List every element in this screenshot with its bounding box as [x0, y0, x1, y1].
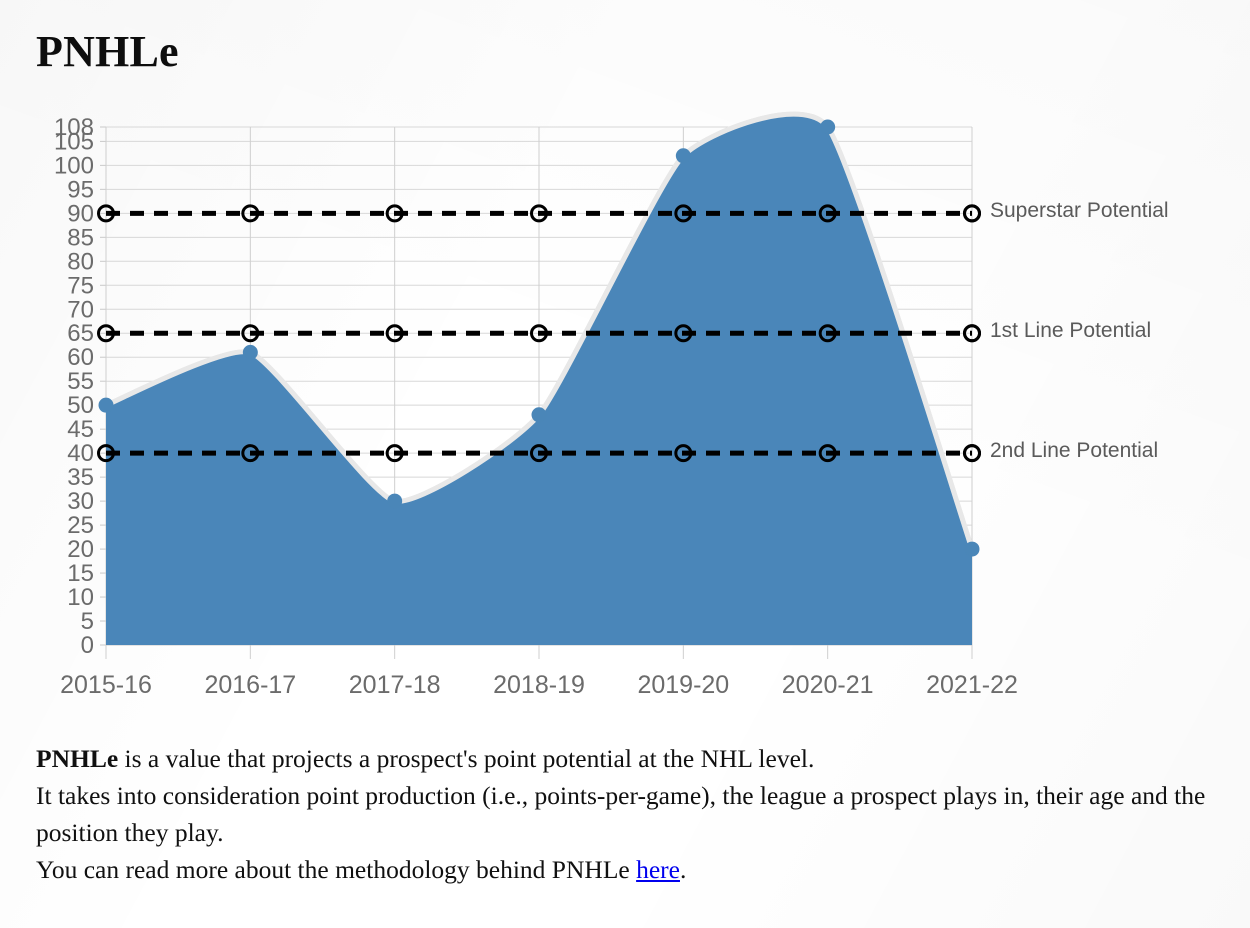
y-tick-label: 85: [67, 224, 94, 251]
reference-line-marker: [99, 446, 114, 461]
y-tick-label: 5: [81, 608, 94, 635]
pnhle-area-chart: 0510152025303540455055606570758085909510…: [0, 105, 1250, 715]
reference-line-label-3: 2nd Line Potential: [990, 439, 1158, 463]
y-tick-label: 45: [67, 416, 94, 443]
reference-line-marker: [676, 326, 691, 341]
y-tick-label: 90: [67, 200, 94, 227]
data-point-marker[interactable]: [821, 120, 835, 134]
y-tick-label: 0: [81, 632, 94, 659]
x-tick-label: 2019-20: [637, 671, 729, 699]
data-point-marker[interactable]: [965, 542, 979, 556]
footer-description: PNHLe is a value that projects a prospec…: [36, 740, 1216, 888]
y-tick-label: 60: [67, 344, 94, 371]
reference-line-marker: [243, 326, 258, 341]
y-tick-label: 30: [67, 488, 94, 515]
x-tick-label: 2017-18: [349, 671, 441, 699]
reference-line-marker: [387, 446, 402, 461]
footer-line-1: PNHLe is a value that projects a prospec…: [36, 740, 1216, 777]
y-tick-label: 108: [54, 114, 94, 141]
y-tick-label: 15: [67, 560, 94, 587]
data-point-marker[interactable]: [99, 398, 113, 412]
methodology-link[interactable]: here: [636, 855, 680, 884]
footer-line-1-rest: is a value that projects a prospect's po…: [118, 744, 814, 773]
page-root: PNHLe 0510152025303540455055606570758085…: [0, 0, 1250, 928]
x-tick-label: 2021-22: [926, 671, 1018, 699]
reference-line-marker: [820, 326, 835, 341]
reference-line-marker: [99, 326, 114, 341]
reference-line-marker: [243, 446, 258, 461]
chart-svg: 0510152025303540455055606570758085909510…: [0, 105, 1250, 715]
x-tick-label: 2020-21: [782, 671, 874, 699]
y-tick-label: 95: [67, 176, 94, 203]
reference-line-marker: [99, 206, 114, 221]
data-point-marker[interactable]: [243, 345, 257, 359]
x-tick-label: 2018-19: [493, 671, 585, 699]
data-point-marker[interactable]: [676, 149, 690, 163]
y-tick-label: 35: [67, 464, 94, 491]
reference-line-label-1: Superstar Potential: [990, 199, 1169, 223]
footer-line-3: You can read more about the methodology …: [36, 851, 1216, 888]
reference-line-marker: [387, 206, 402, 221]
y-tick-label: 65: [67, 320, 94, 347]
reference-line-marker: [820, 446, 835, 461]
reference-line-marker: [532, 326, 547, 341]
x-axis-tick-labels: 2015-162016-172017-182018-192019-202020-…: [60, 671, 1018, 699]
reference-line-marker: [532, 206, 547, 221]
y-tick-label: 70: [67, 296, 94, 323]
y-tick-label: 80: [67, 248, 94, 275]
x-tick-label: 2016-17: [204, 671, 296, 699]
footer-bold-lead: PNHLe: [36, 744, 118, 773]
reference-line-label-2: 1st Line Potential: [990, 319, 1151, 343]
data-point-marker[interactable]: [532, 408, 546, 422]
y-tick-label: 50: [67, 392, 94, 419]
y-tick-label: 40: [67, 440, 94, 467]
y-axis-tick-labels: 0510152025303540455055606570758085909510…: [54, 114, 94, 659]
x-tick-label: 2015-16: [60, 671, 152, 699]
y-tick-label: 10: [67, 584, 94, 611]
reference-line-marker: [820, 206, 835, 221]
reference-line-marker: [387, 326, 402, 341]
reference-line-marker: [243, 206, 258, 221]
y-tick-label: 20: [67, 536, 94, 563]
reference-line-marker: [676, 446, 691, 461]
page-title: PNHLe: [36, 26, 179, 78]
y-tick-label: 25: [67, 512, 94, 539]
y-tick-label: 100: [54, 152, 94, 179]
data-point-marker[interactable]: [388, 494, 402, 508]
reference-line-marker: [532, 446, 547, 461]
footer-line-3-after: .: [680, 855, 686, 884]
y-tick-label: 55: [67, 368, 94, 395]
reference-line-marker: [676, 206, 691, 221]
footer-line-3-before: You can read more about the methodology …: [36, 855, 636, 884]
footer-line-2: It takes into consideration point produc…: [36, 777, 1216, 851]
y-tick-label: 75: [67, 272, 94, 299]
